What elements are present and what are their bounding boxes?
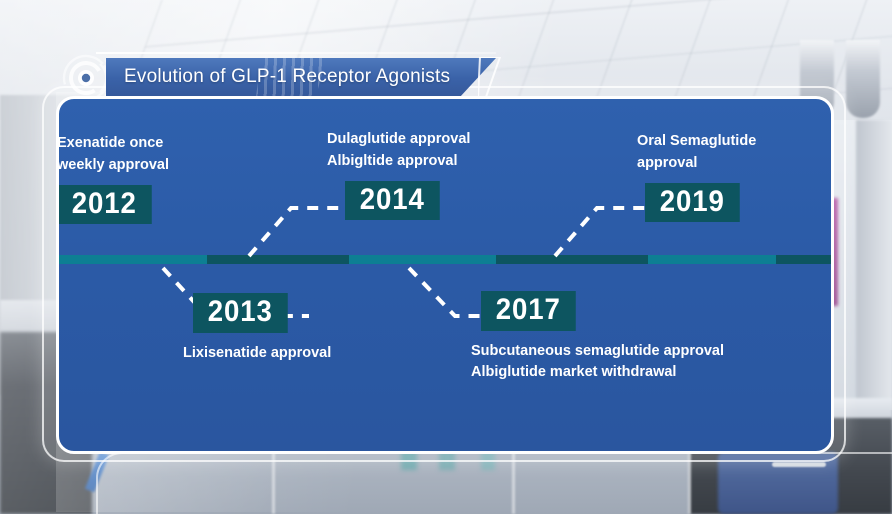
event-2014-label-2: Albigltide approval xyxy=(327,151,577,173)
drawer-handle xyxy=(772,462,826,467)
timeline-segment-2 xyxy=(207,255,349,264)
right-column xyxy=(856,120,892,420)
event-2014-label-1: Dulaglutide approval xyxy=(327,129,577,151)
timeline-card: Exenatide once weekly approval 2012 Dula… xyxy=(56,96,834,454)
event-2019[interactable]: Oral Semaglutide approval 2019 xyxy=(637,131,834,222)
timeline-segment-5 xyxy=(648,255,776,264)
timeline-segment-3 xyxy=(349,255,496,264)
event-2019-label-2: approval xyxy=(637,153,834,175)
event-2019-label-1: Oral Semaglutide xyxy=(637,131,834,153)
event-2019-year: 2019 xyxy=(645,183,740,223)
event-2012-label-2: weekly approval xyxy=(57,155,287,177)
event-2012-year: 2012 xyxy=(57,185,152,225)
event-2017[interactable]: 2017 Subcutaneous semaglutide approval A… xyxy=(471,291,811,384)
event-2012[interactable]: Exenatide once weekly approval 2012 xyxy=(57,133,287,224)
event-2017-label-2: Albiglutide market withdrawal xyxy=(471,362,811,384)
title-banner: Evolution of GLP-1 Receptor Agonists xyxy=(106,58,496,96)
event-2014[interactable]: Dulaglutide approval Albigltide approval… xyxy=(327,129,577,220)
timeline-segment-4 xyxy=(496,255,648,264)
title-accent-line xyxy=(96,52,496,54)
event-2013[interactable]: 2013 Lixisenatide approval xyxy=(183,293,413,364)
event-2014-year: 2014 xyxy=(345,181,440,221)
event-2017-label-1: Subcutaneous semaglutide approval xyxy=(471,341,811,363)
timeline-segment-1 xyxy=(59,255,207,264)
event-2012-label-1: Exenatide once xyxy=(57,133,287,155)
timeline-bar xyxy=(59,255,831,264)
page-title: Evolution of GLP-1 Receptor Agonists xyxy=(106,66,450,88)
event-2017-year: 2017 xyxy=(481,291,576,331)
ceiling-lamp-2 xyxy=(846,40,880,118)
timeline-segment-6 xyxy=(776,255,831,264)
slide-stage: Evolution of GLP-1 Receptor Agonists xyxy=(0,0,892,514)
event-2013-label-1: Lixisenatide approval xyxy=(183,343,413,365)
event-2013-year: 2013 xyxy=(193,293,288,333)
